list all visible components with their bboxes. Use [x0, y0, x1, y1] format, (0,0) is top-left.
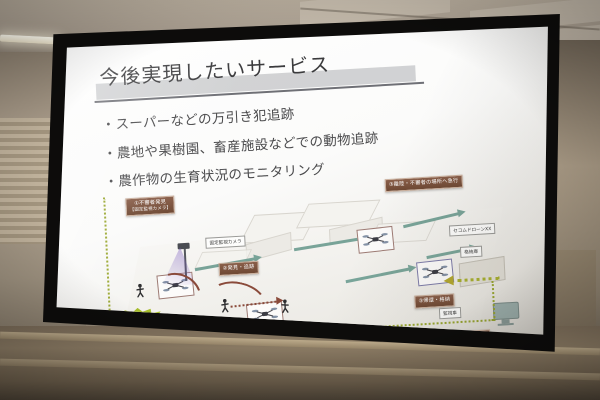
step-label-2: ②発見・追跡	[218, 261, 258, 276]
step-label-3: ③離陸・不審者の場所へ急行	[385, 175, 463, 192]
drone-icon	[362, 231, 389, 249]
person-icon	[135, 283, 145, 298]
callout-fixed-camera: 固定監視カメラ	[205, 235, 246, 248]
fixed-camera-icon	[177, 243, 189, 250]
step-label-1: ①不審者発見 【固定監視カメラ】	[125, 196, 175, 217]
monitor-base	[498, 323, 514, 326]
slide-title-group: 今後実現したいサービス	[99, 42, 430, 90]
perimeter-dotted-line	[492, 281, 496, 321]
monitor-screen	[493, 302, 520, 321]
step-4-text: 帰還・格納	[423, 297, 450, 305]
step-2-text: 発見・追跡	[227, 264, 254, 272]
callout-hangar: 格納庫	[460, 246, 482, 258]
callout-monitor-center: 監視車	[439, 307, 461, 319]
monitor-icon	[493, 302, 518, 323]
step-label-4: ③帰還・格納	[414, 293, 454, 308]
drone-photo-thumbnail	[356, 226, 394, 254]
photo-of-projected-slide: 今後実現したいサービス スーパーなどの万引き犯追跡 農地や果樹園、畜産施設などで…	[0, 0, 600, 400]
step-3-text: 離陸・不審者の場所へ急行	[394, 178, 459, 188]
suspect-path-arrowhead	[276, 296, 283, 304]
step-1-sub: 【固定監視カメラ】	[130, 205, 172, 213]
hangar-arrow-icon	[443, 275, 453, 286]
